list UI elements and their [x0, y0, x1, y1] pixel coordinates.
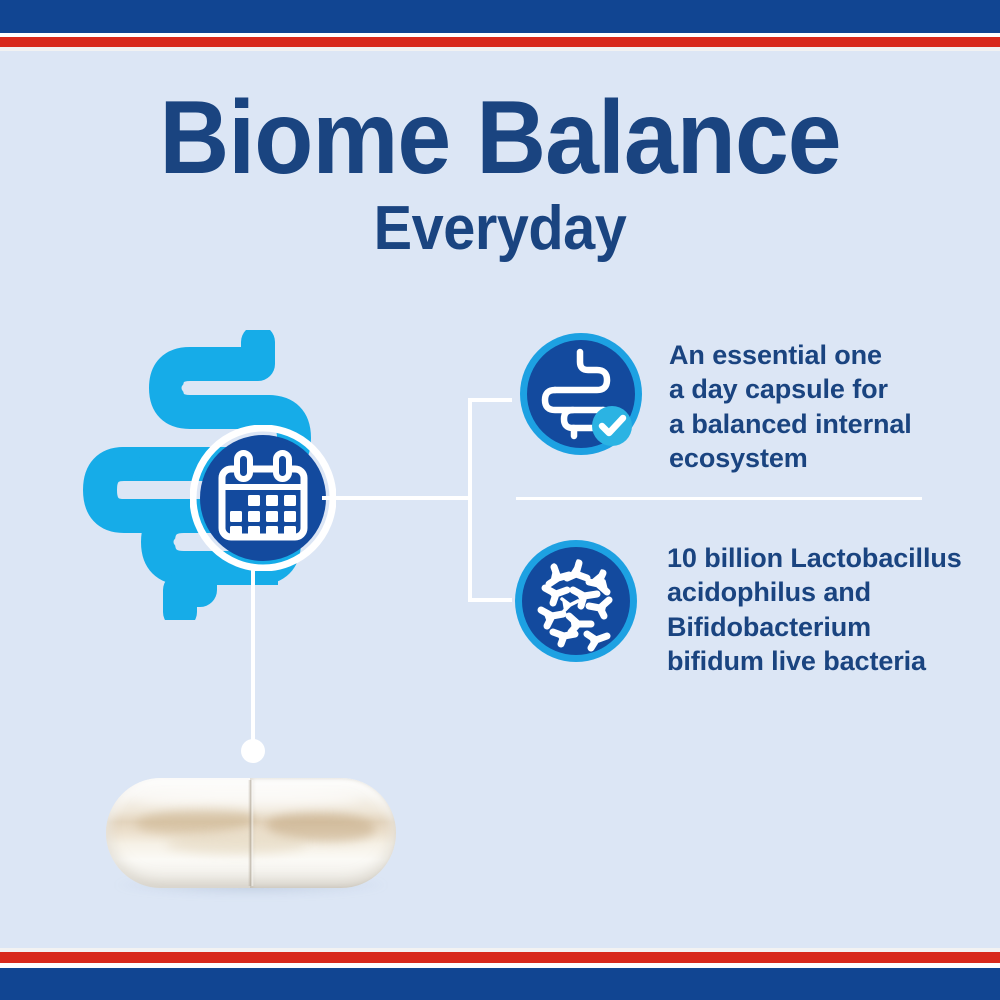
top-blue-band [0, 0, 1000, 33]
capsule-seam [248, 780, 254, 886]
bottom-blue-band [0, 968, 1000, 1000]
bottom-red-band [0, 952, 1000, 963]
connector-horizontal [322, 496, 472, 500]
capsule-body [106, 778, 396, 888]
capsule-grain [135, 805, 256, 837]
connector-dot [241, 739, 265, 763]
connector-bracket-arm-bottom [468, 598, 512, 602]
product-infographic-poster: Biome Balance Everyday [0, 0, 1000, 1000]
connector-bracket-arm-top [468, 398, 512, 402]
feature-text-bacteria: 10 billion Lactobacillus acidophilus and… [667, 537, 962, 678]
capsule-cap-edge [250, 778, 396, 888]
top-fade-band [0, 47, 1000, 51]
probiotic-capsule [106, 778, 396, 896]
bacteria-icon [512, 537, 640, 665]
feature-row-bacteria: 10 billion Lactobacillus acidophilus and… [512, 537, 962, 678]
check-badge [592, 406, 632, 446]
product-title: Biome Balance [35, 88, 965, 190]
calendar-medallion [190, 425, 336, 571]
connector-vertical-capsule [251, 566, 255, 752]
product-subtitle: Everyday [35, 198, 965, 260]
top-red-band [0, 37, 1000, 47]
feature-row-essential: An essential one a day capsule for a bal… [517, 330, 912, 475]
connector-bracket-vertical [468, 398, 472, 602]
feature-text-essential: An essential one a day capsule for a bal… [669, 330, 912, 475]
headline-block: Biome Balance Everyday [0, 88, 1000, 260]
intestine-check-icon [517, 330, 645, 458]
feature-divider [516, 497, 922, 500]
